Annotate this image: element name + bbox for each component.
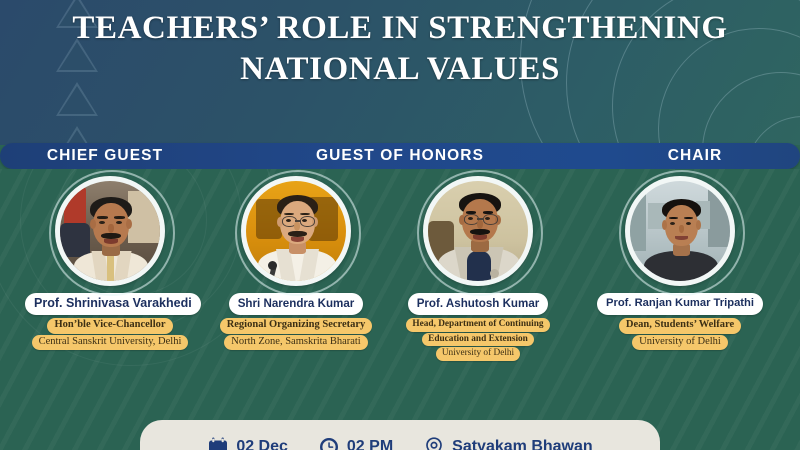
person-card-ashutosh-kumar: Prof. Ashutosh Kumar Head, Department of… [387,176,569,361]
person-designation: Regional Organizing Secretary North Zone… [205,318,387,350]
event-poster: TEACHERS’ ROLE IN STRENGTHENING NATIONAL… [0,0,800,450]
role-label-guest-of-honors: GUEST OF HONORS [210,143,590,169]
event-details-bar: 02 Dec 02 PM Satyakam Bhawan [140,420,660,450]
person-name: Prof. Ashutosh Kumar [408,293,549,315]
avatar [241,176,351,286]
person-designation: Hon’ble Vice-Chancellor Central Sanskrit… [25,318,195,350]
event-time: 02 PM [318,436,393,450]
event-venue-text: Satyakam Bhawan [452,438,593,450]
clock-icon [318,436,340,450]
person-card-narendra-kumar: Shri Narendra Kumar Regional Organizing … [205,176,387,350]
calendar-icon [207,436,229,450]
person-designation: Dean, Students’ Welfare University of De… [580,318,780,350]
person-designation: Head, Department of Continuing Education… [387,318,569,361]
role-ribbon: CHIEF GUEST GUEST OF HONORS CHAIR [0,143,800,169]
event-date: 02 Dec [207,436,288,450]
role-label-chair: CHAIR [590,143,800,169]
person-photo-narendra-kumar [246,181,346,281]
avatar [625,176,735,286]
designation-line: University of Delhi [436,347,520,361]
person-name: Prof. Shrinivasa Varakhedi [25,293,201,315]
person-photo-ranjan-kumar-tripathi [630,181,730,281]
person-name: Shri Narendra Kumar [229,293,364,315]
location-pin-icon [423,436,445,450]
event-date-text: 02 Dec [236,438,288,450]
designation-line: University of Delhi [632,335,728,351]
role-label-chief-guest: CHIEF GUEST [0,143,210,169]
poster-header-panel: TEACHERS’ ROLE IN STRENGTHENING NATIONAL… [0,0,800,145]
event-venue: Satyakam Bhawan [423,436,593,450]
designation-line: Central Sanskrit University, Delhi [32,335,189,351]
poster-title-line-1: TEACHERS’ ROLE IN STRENGTHENING [0,8,800,49]
designation-line: Dean, Students’ Welfare [619,318,741,334]
poster-title: TEACHERS’ ROLE IN STRENGTHENING NATIONAL… [0,8,800,90]
person-card-ranjan-kumar-tripathi: Prof. Ranjan Kumar Tripathi Dean, Studen… [580,176,780,350]
avatar [423,176,533,286]
person-name: Prof. Ranjan Kumar Tripathi [597,293,763,315]
designation-line: Regional Organizing Secretary [220,318,373,334]
designation-line: Hon’ble Vice-Chancellor [47,318,172,334]
event-time-text: 02 PM [347,438,393,450]
person-photo-ashutosh-kumar [428,181,528,281]
designation-line: Education and Extension [422,333,534,347]
person-card-chief-guest: Prof. Shrinivasa Varakhedi Hon’ble Vice-… [25,176,195,350]
designation-line: North Zone, Samskrita Bharati [224,335,367,351]
avatar [55,176,165,286]
designation-line: Head, Department of Continuing [406,318,549,332]
poster-title-line-2: NATIONAL VALUES [0,49,800,90]
person-photo-shrinivasa-varakhedi [60,181,160,281]
